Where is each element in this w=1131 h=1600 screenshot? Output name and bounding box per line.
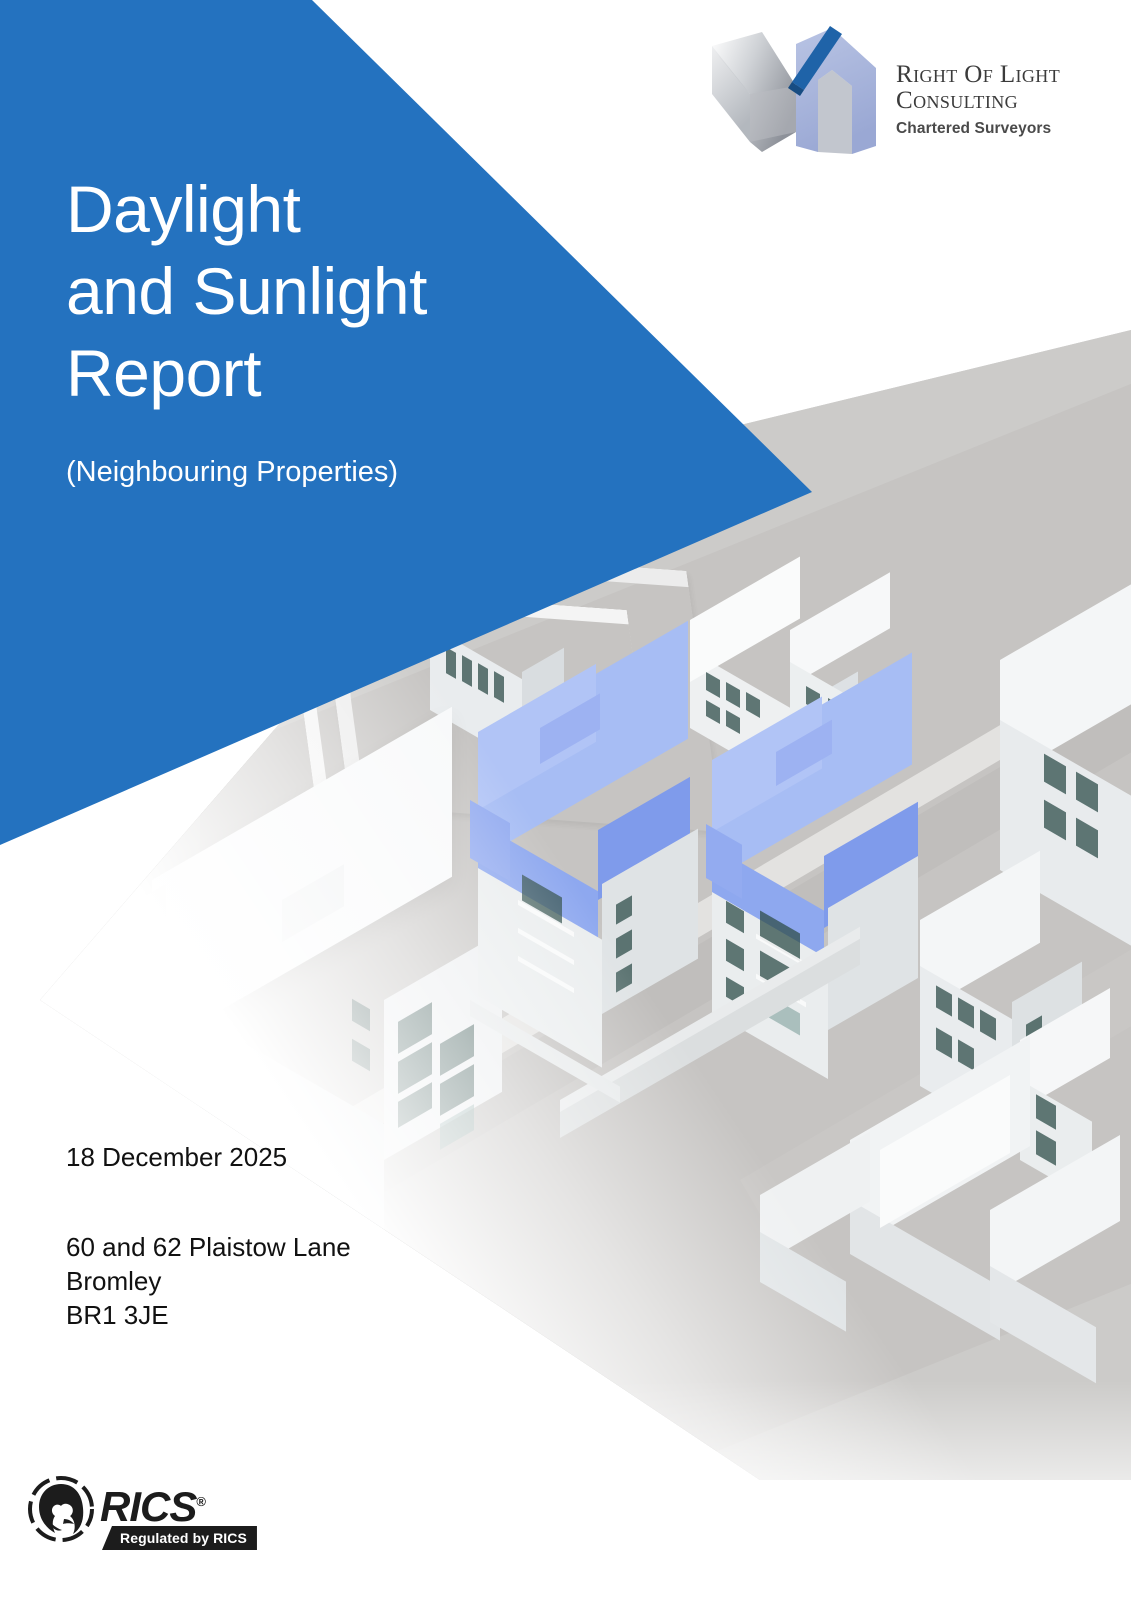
logo-text-line-1: Right Of Light (896, 62, 1106, 88)
company-logo: Right Of Light Consulting Chartered Surv… (700, 24, 1100, 156)
cover-title-block: Daylight and Sunlight Report (Neighbouri… (66, 168, 706, 492)
site-address: 60 and 62 Plaistow Lane Bromley BR1 3JE (66, 1230, 586, 1332)
cover-meta-block: 18 December 2025 60 and 62 Plaistow Lane… (66, 1140, 586, 1332)
page-title-line-3: Report (66, 332, 706, 414)
page-title-line-2: and Sunlight (66, 250, 706, 332)
logo-tagline: Chartered Surveyors (896, 118, 1106, 140)
address-line-1: 60 and 62 Plaistow Lane (66, 1230, 586, 1264)
page-title-line-1: Daylight (66, 168, 706, 250)
right-of-light-house-arrow-icon (700, 24, 885, 156)
registered-trademark-symbol: ® (196, 1494, 206, 1509)
rics-regulated-banner: Regulated by RICS (102, 1526, 257, 1550)
logo-text-line-2: Consulting (896, 88, 1106, 114)
report-date: 18 December 2025 (66, 1140, 586, 1174)
address-line-3: BR1 3JE (66, 1298, 586, 1332)
rics-lion-head-icon (28, 1476, 94, 1542)
company-logo-text: Right Of Light Consulting Chartered Surv… (896, 62, 1106, 140)
rics-regulated-label: Regulated by RICS (120, 1530, 247, 1546)
rics-wordmark: RICS® (100, 1480, 206, 1529)
page-subtitle: (Neighbouring Properties) (66, 452, 706, 492)
address-line-2: Bromley (66, 1264, 586, 1298)
rics-accreditation-logo: RICS® Regulated by RICS (28, 1472, 258, 1554)
report-cover-page: Daylight and Sunlight Report (Neighbouri… (0, 0, 1131, 1600)
